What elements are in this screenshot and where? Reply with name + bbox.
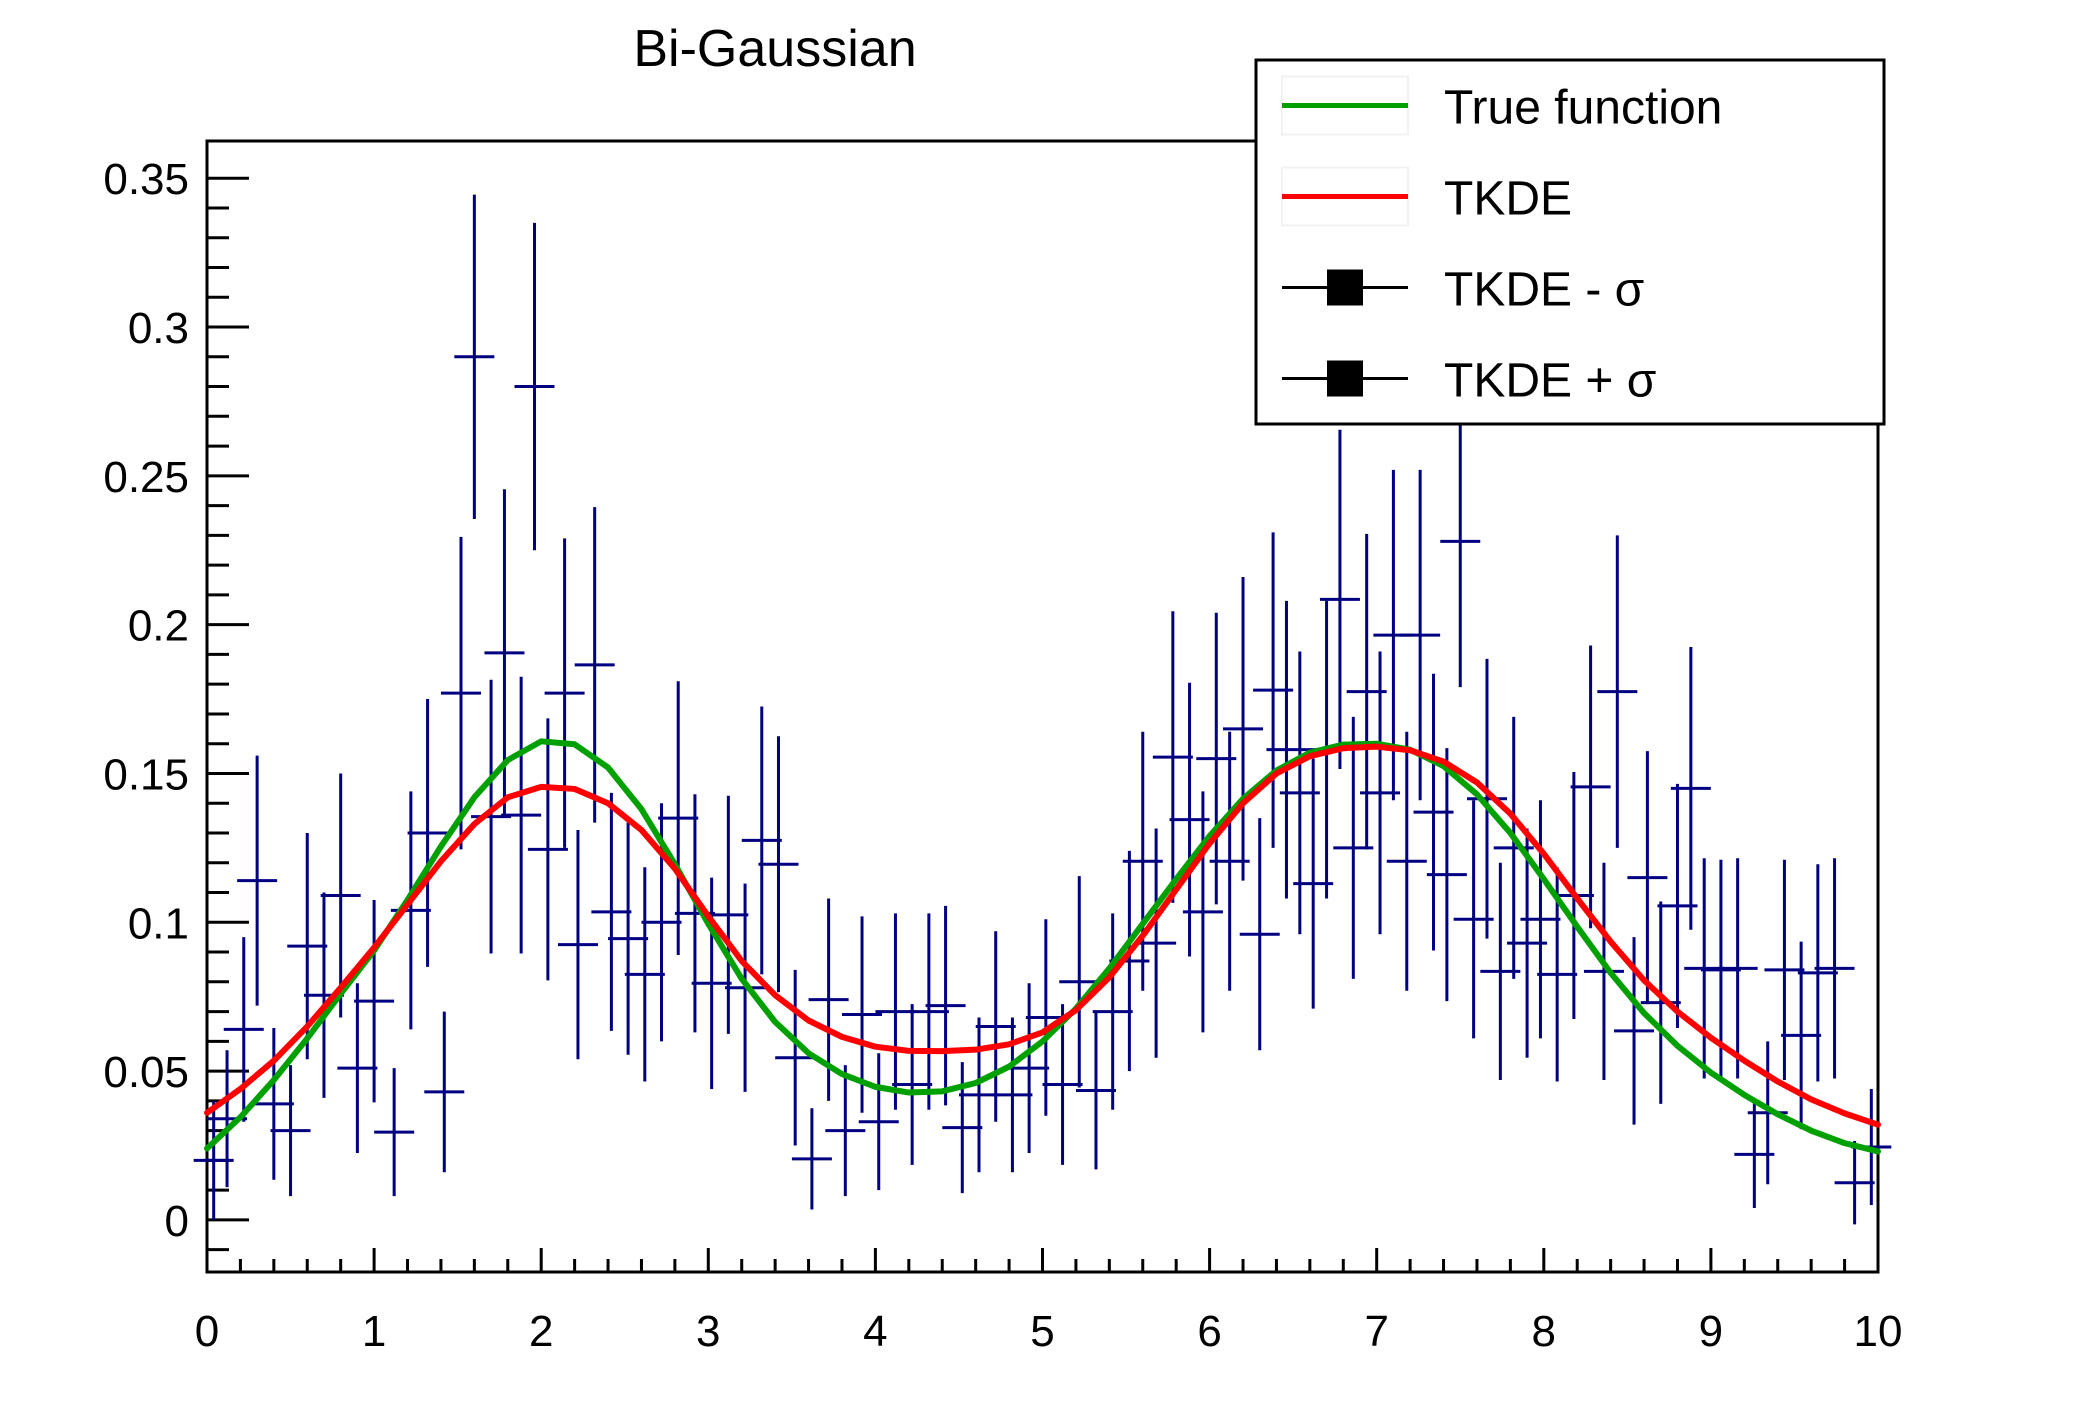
y-tick-label: 0.1	[128, 899, 189, 948]
legend-marker-swatch	[1327, 270, 1363, 306]
legend-label: TKDE - σ	[1444, 264, 1644, 317]
y-tick-label: 0.05	[103, 1048, 189, 1097]
true-function-curve	[207, 741, 1878, 1151]
x-tick-label: 3	[696, 1307, 720, 1356]
x-tick-label: 6	[1197, 1307, 1221, 1356]
y-tick-label: 0.15	[103, 750, 189, 799]
legend-label: True function	[1444, 82, 1722, 135]
x-tick-label: 0	[195, 1307, 219, 1356]
y-tick-label: 0.25	[103, 453, 189, 502]
y-tick-label: 0.2	[128, 602, 189, 651]
legend-label: TKDE	[1444, 173, 1572, 226]
chart-canvas: 01234567891000.050.10.150.20.250.30.35Bi…	[0, 0, 2088, 1416]
x-tick-label: 4	[863, 1307, 887, 1356]
x-tick-label: 7	[1364, 1307, 1388, 1356]
y-tick-label: 0.3	[128, 304, 189, 353]
legend: True functionTKDETKDE - σTKDE + σ	[1256, 60, 1884, 424]
legend-label: TKDE + σ	[1444, 355, 1656, 408]
x-tick-label: 2	[529, 1307, 553, 1356]
y-tick-label: 0.35	[103, 155, 189, 204]
x-tick-label: 8	[1532, 1307, 1556, 1356]
x-tick-label: 5	[1030, 1307, 1054, 1356]
y-tick-label: 0	[165, 1197, 189, 1246]
x-tick-label: 10	[1854, 1307, 1903, 1356]
chart-title: Bi-Gaussian	[633, 20, 916, 78]
bi-gaussian-plot: 01234567891000.050.10.150.20.250.30.35Bi…	[0, 0, 2088, 1416]
x-tick-label: 9	[1699, 1307, 1723, 1356]
legend-marker-swatch	[1327, 361, 1363, 397]
x-tick-label: 1	[362, 1307, 386, 1356]
